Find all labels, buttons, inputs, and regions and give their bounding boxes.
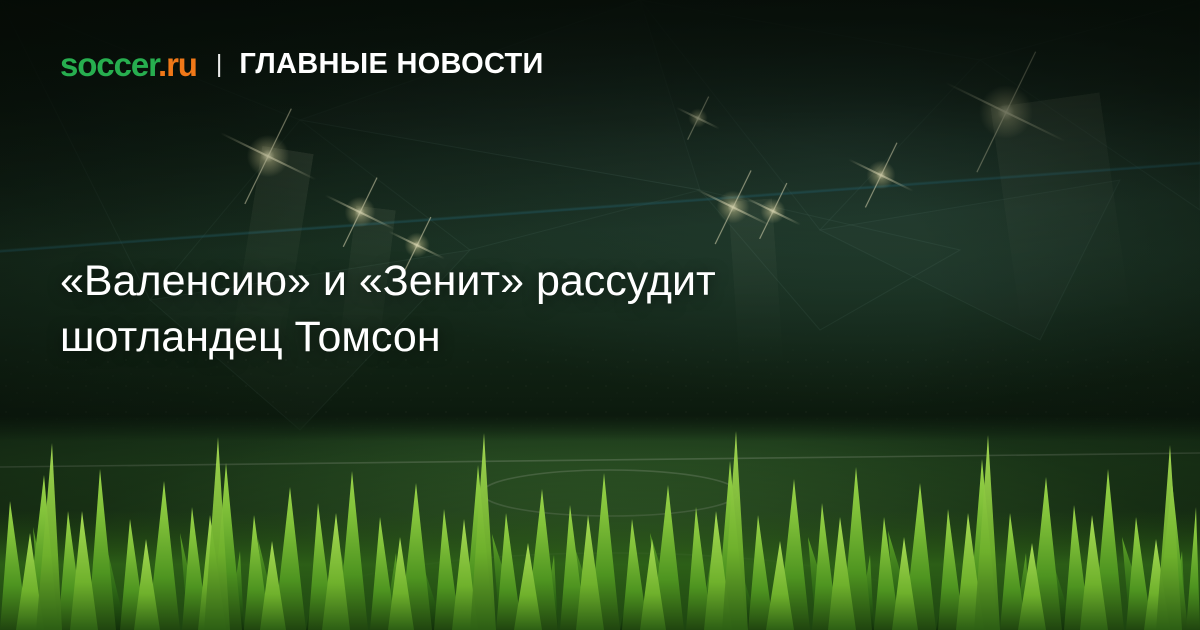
card-header: soccer.ru | ГЛАВНЫЕ НОВОСТИ — [60, 48, 544, 81]
headline-line-1: «Валенсию» и «Зенит» рассудит — [60, 254, 1040, 310]
site-logo-tld: .ru — [158, 46, 197, 83]
header-divider: | — [216, 52, 223, 77]
headline-line-2: шотландец Томсон — [60, 310, 1040, 366]
site-logo-name: soccer — [60, 46, 158, 83]
news-share-card: soccer.ru | ГЛАВНЫЕ НОВОСТИ «Валенсию» и… — [0, 0, 1200, 630]
section-label: ГЛАВНЫЕ НОВОСТИ — [239, 50, 543, 79]
headline: «Валенсию» и «Зенит» рассудит шотландец … — [60, 254, 1040, 366]
site-logo[interactable]: soccer.ru — [60, 48, 197, 81]
